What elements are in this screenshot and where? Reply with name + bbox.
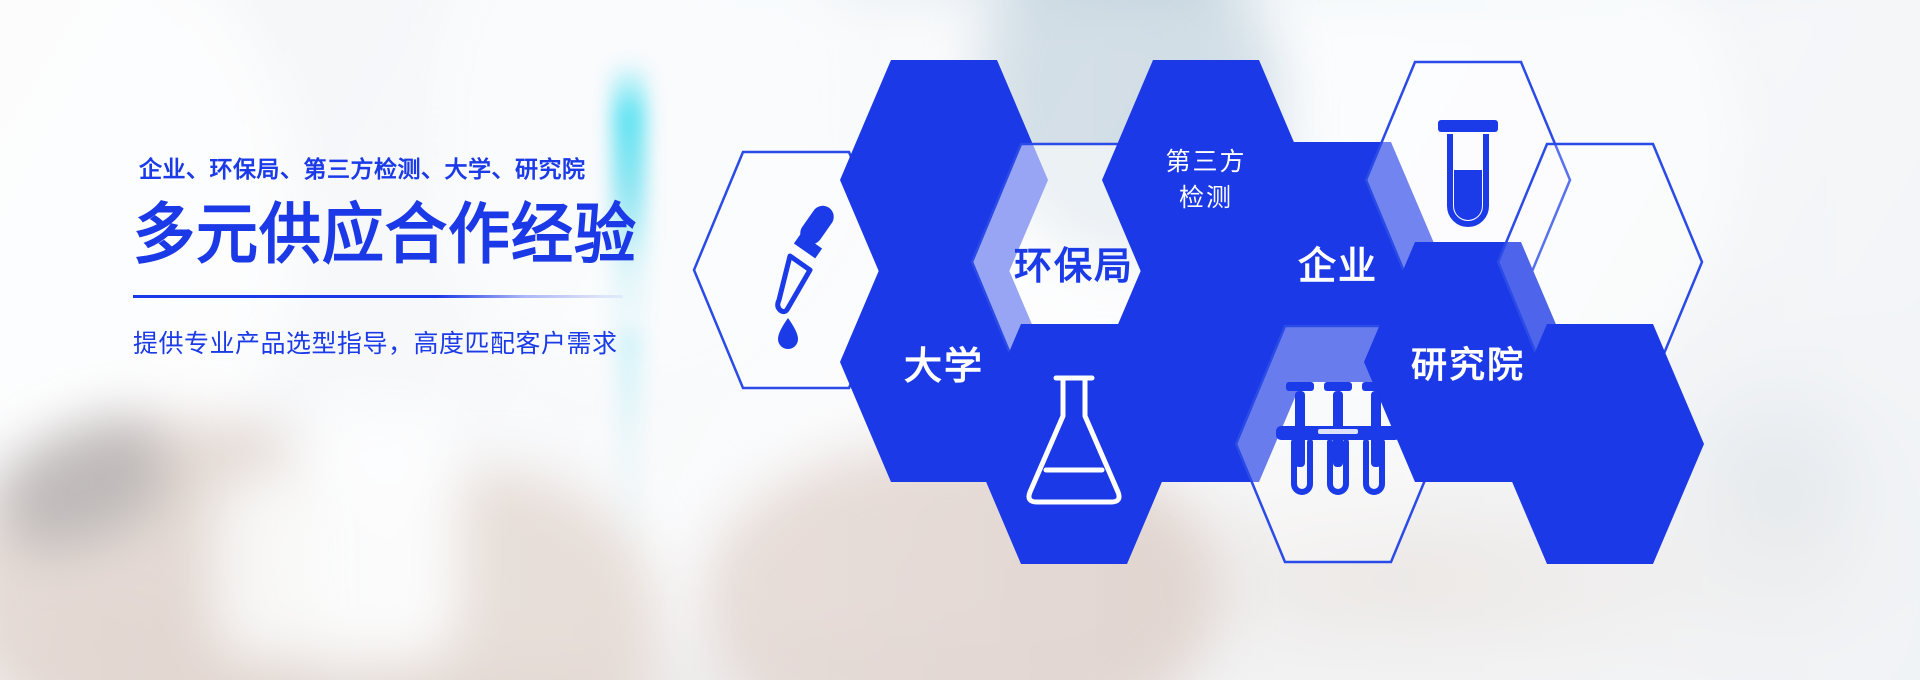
hexagon-edge-right-bottom	[1494, 322, 1706, 566]
promotional-banner: 企业、环保局、第三方检测、大学、研究院 多元供应合作经验 提供专业产品选型指导，…	[0, 0, 1920, 680]
hexagon-cluster: 大学 环保局	[0, 0, 1920, 680]
